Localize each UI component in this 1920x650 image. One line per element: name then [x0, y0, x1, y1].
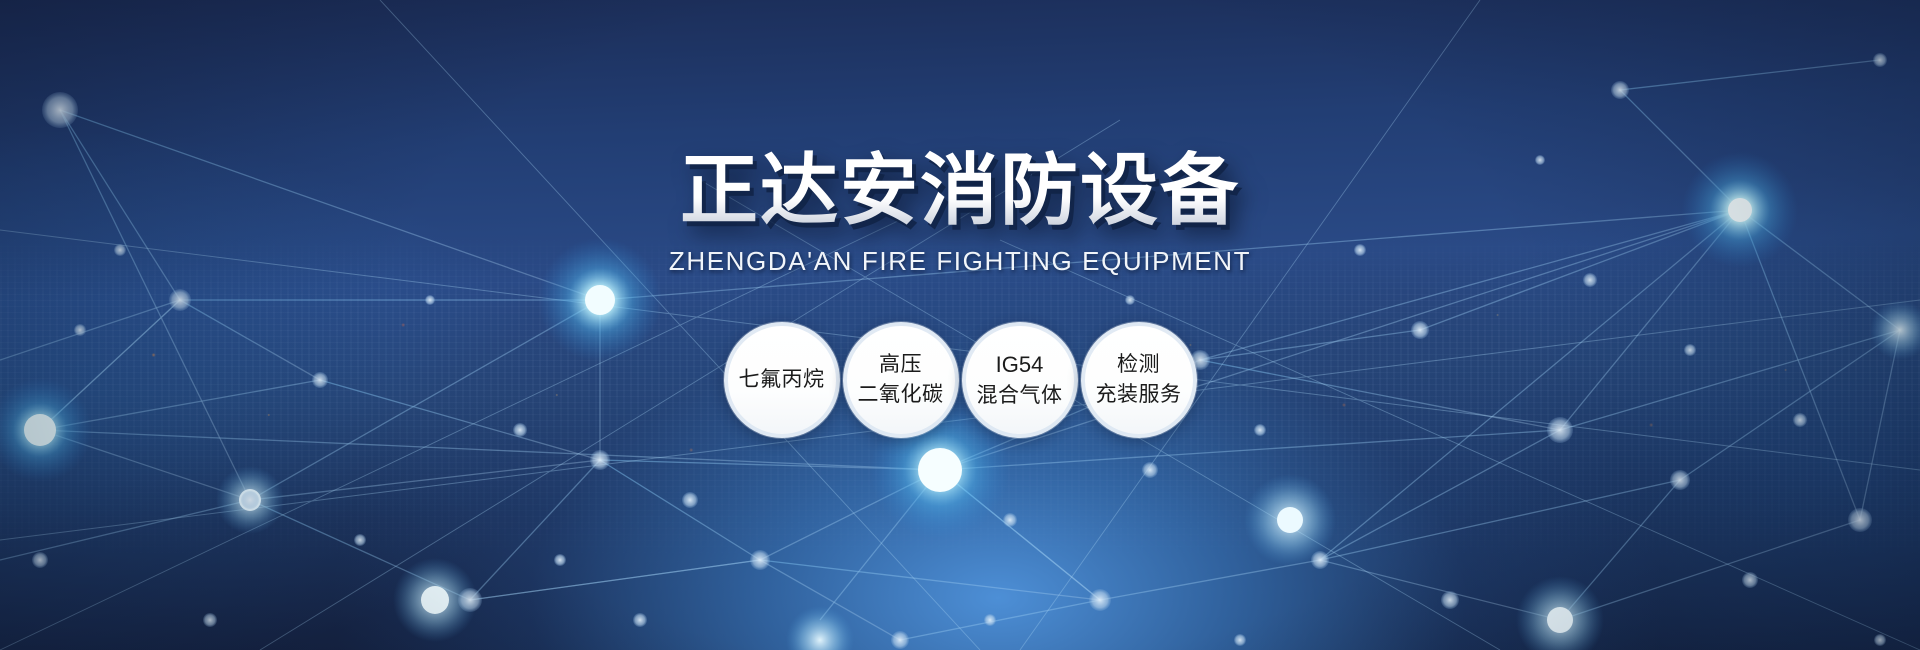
badge-label-top: 检测 — [1117, 350, 1160, 380]
badge-label: 七氟丙烷 — [739, 365, 825, 395]
badge-label-bottom: 充装服务 — [1096, 380, 1182, 410]
badge-label-bottom: 二氧化碳 — [858, 380, 944, 410]
title-block: 正达安消防设备 ZHENGDA'AN FIRE FIGHTING EQUIPME… — [0, 150, 1920, 275]
page-subtitle: ZHENGDA'AN FIRE FIGHTING EQUIPMENT — [0, 247, 1920, 276]
badge-label-bottom: 混合气体 — [977, 381, 1063, 411]
badge-inspection-filling-service[interactable]: 检测 充装服务 — [1081, 322, 1197, 438]
badge-label-top: 高压 — [879, 350, 922, 380]
badge-hfc227ea[interactable]: 七氟丙烷 — [724, 322, 840, 438]
hero-banner: 正达安消防设备 ZHENGDA'AN FIRE FIGHTING EQUIPME… — [0, 0, 1920, 650]
badge-list: 七氟丙烷 高压 二氧化碳 IG54 混合气体 检测 充装服务 — [0, 322, 1920, 438]
badge-label-top: IG54 — [996, 349, 1044, 380]
banner-content: 正达安消防设备 ZHENGDA'AN FIRE FIGHTING EQUIPME… — [0, 0, 1920, 650]
badge-high-pressure-co2[interactable]: 高压 二氧化碳 — [843, 322, 959, 438]
badge-ig54-mixed-gas[interactable]: IG54 混合气体 — [962, 322, 1078, 438]
page-title: 正达安消防设备 — [0, 150, 1920, 233]
